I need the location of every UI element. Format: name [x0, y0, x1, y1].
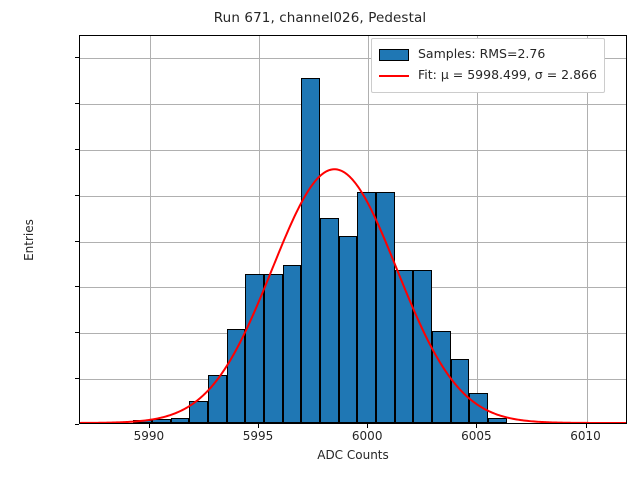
x-tick-label: 6005 — [461, 429, 492, 443]
plot-area — [79, 35, 627, 424]
x-tick-mark — [258, 424, 259, 428]
y-tick-mark — [75, 424, 79, 425]
legend: Samples: RMS=2.76 Fit: μ = 5998.499, σ =… — [371, 38, 605, 93]
x-tick-mark — [367, 424, 368, 428]
x-tick-mark — [586, 424, 587, 428]
legend-entry-samples: Samples: RMS=2.76 — [379, 44, 597, 65]
legend-patch-icon — [379, 49, 409, 61]
legend-label-samples: Samples: RMS=2.76 — [418, 48, 545, 61]
histogram-figure: Run 671, channel026, Pedestal Entries AD… — [0, 0, 640, 480]
x-tick-label: 5995 — [243, 429, 274, 443]
legend-line-icon — [379, 75, 409, 77]
legend-entry-fit: Fit: μ = 5998.499, σ = 2.866 — [379, 65, 597, 86]
x-tick-mark — [149, 424, 150, 428]
x-tick-label: 6000 — [352, 429, 383, 443]
fit-path — [80, 169, 626, 423]
y-axis-label: Entries — [22, 219, 36, 261]
x-tick-label: 6010 — [570, 429, 601, 443]
gaussian-fit-curve — [80, 36, 626, 423]
legend-label-fit: Fit: μ = 5998.499, σ = 2.866 — [418, 69, 597, 82]
x-tick-label: 5990 — [134, 429, 165, 443]
x-axis-label: ADC Counts — [79, 448, 627, 462]
x-tick-mark — [476, 424, 477, 428]
page-title: Run 671, channel026, Pedestal — [0, 10, 640, 26]
